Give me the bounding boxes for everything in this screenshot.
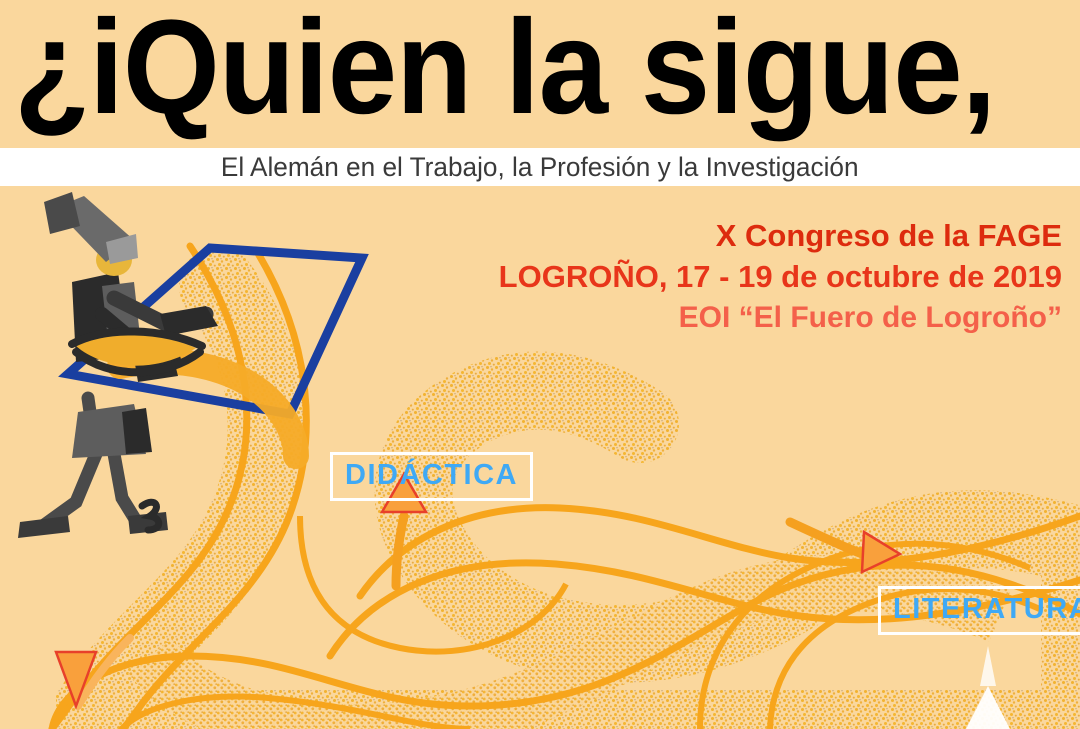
event-line-date: LOGROÑO, 17 - 19 de octubre de 2019 [499,257,1062,298]
event-line-congress: X Congreso de la FAGE [499,216,1062,257]
subtitle-band: El Alemán en el Trabajo, la Profesión y … [0,148,1080,186]
event-info: X Congreso de la FAGE LOGROÑO, 17 - 19 d… [499,216,1062,337]
white-wedge-bottom-right [966,646,1010,729]
topic-label-didactica[interactable]: DIDÁCTICA [330,452,533,501]
poster-body: X Congreso de la FAGE LOGROÑO, 17 - 19 d… [0,186,1080,729]
figure-svg [10,186,380,586]
figure-illustration [10,186,370,586]
title-band: ¿iQuien la sigue, [0,0,1080,148]
page-subtitle: El Alemán en el Trabajo, la Profesión y … [221,152,859,183]
page-title: ¿iQuien la sigue, [14,0,995,142]
topic-label-literatura[interactable]: LITERATURA [878,586,1080,635]
event-line-venue: EOI “El Fuero de Logroño” [499,298,1062,338]
